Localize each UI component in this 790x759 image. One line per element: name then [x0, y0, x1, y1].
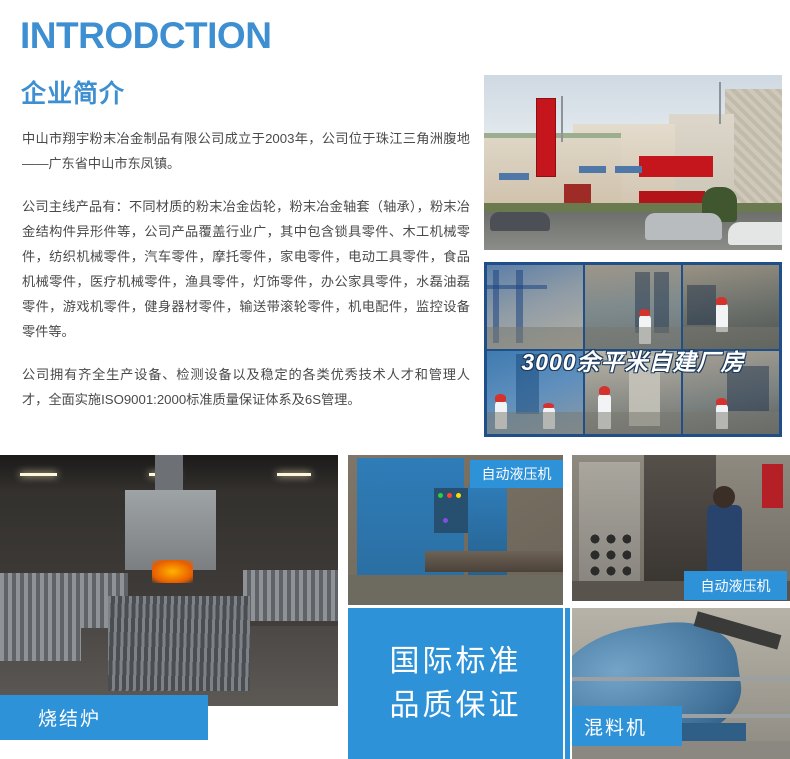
- part-tray-stack: [0, 621, 81, 661]
- vertical-red-sign: [536, 98, 555, 177]
- safety-rail: [572, 677, 790, 681]
- press-column: [644, 455, 716, 583]
- quality-slogan-line-2: 品质保证: [390, 687, 522, 725]
- parked-suv: [645, 213, 722, 239]
- intro-paragraph-3: 公司拥有齐全生产设备、检测设备以及稳定的各类优秀技术人才和管理人才，全面实施IS…: [22, 362, 470, 412]
- furnace-flame: [152, 560, 193, 583]
- operator-figure: [707, 505, 742, 578]
- window-awning: [499, 173, 529, 180]
- indicator-light: [438, 493, 443, 498]
- ceiling-lamp: [277, 473, 311, 476]
- floor-region: [348, 575, 563, 605]
- collage-cell-press-line: [585, 265, 681, 349]
- parked-car: [490, 212, 550, 231]
- left-edge-strip: [565, 608, 570, 759]
- page-root: INTRODCTION 企业简介 中山市翔宇粉末冶金制品有限公司成立于2003年…: [0, 0, 790, 759]
- parked-car: [728, 222, 782, 245]
- intro-paragraph-2: 公司主线产品有：不同材质的粉末冶金齿轮，粉末冶金轴套（轴承），粉末冶金结构件异形…: [22, 194, 470, 344]
- hydraulic-press-label-right: 自动液压机: [684, 571, 787, 600]
- part-tray-stack: [243, 570, 338, 620]
- indicator-light: [447, 493, 452, 498]
- work-bench: [425, 551, 563, 572]
- hydraulic-press-label-middle: 自动液压机: [470, 460, 563, 488]
- ceiling-lamp: [20, 473, 57, 476]
- sintering-furnace-label: 烧结炉: [0, 695, 208, 740]
- collage-caption-text: 3000余平米自建厂房: [487, 343, 779, 377]
- sintering-furnace-photo: [0, 455, 338, 706]
- utility-pole: [561, 96, 563, 142]
- intro-paragraph-1: 中山市翔宇粉末冶金制品有限公司成立于2003年，公司位于珠江三角洲腹地——广东省…: [22, 126, 470, 176]
- workshop-collage-photo: 3000余平米自建厂房: [484, 262, 782, 437]
- shelf-beam: [487, 285, 547, 289]
- indicator-light: [456, 493, 461, 498]
- page-title-chinese: 企业简介: [21, 74, 125, 110]
- utility-pole: [719, 82, 721, 124]
- floor-region: [585, 412, 681, 434]
- window-awning: [579, 166, 606, 173]
- factory-exterior-photo: [484, 75, 782, 250]
- welcome-banner-sign: [639, 156, 714, 177]
- page-title-english: INTRODCTION: [20, 16, 271, 57]
- quality-slogan-panel: 国际标准 品质保证: [348, 608, 563, 759]
- floor-region: [487, 412, 583, 434]
- red-wall-banner: [762, 464, 784, 508]
- furnace-conveyor: [108, 596, 250, 691]
- furnace-chimney: [155, 455, 182, 495]
- floor-region: [683, 412, 779, 434]
- control-cabinet: [687, 285, 716, 325]
- quality-slogan-line-1: 国际标准: [390, 643, 522, 681]
- indicator-light: [443, 518, 448, 523]
- press-machine: [654, 272, 669, 334]
- mixer-label: 混料机: [572, 706, 682, 746]
- furnace-hood: [125, 490, 216, 570]
- collage-cell-warehouse: [487, 265, 583, 349]
- window-awning: [615, 166, 642, 173]
- company-introduction-text: 中山市翔宇粉末冶金制品有限公司成立于2003年，公司位于珠江三角洲腹地——广东省…: [22, 126, 470, 412]
- collage-cell-equipment: [683, 265, 779, 349]
